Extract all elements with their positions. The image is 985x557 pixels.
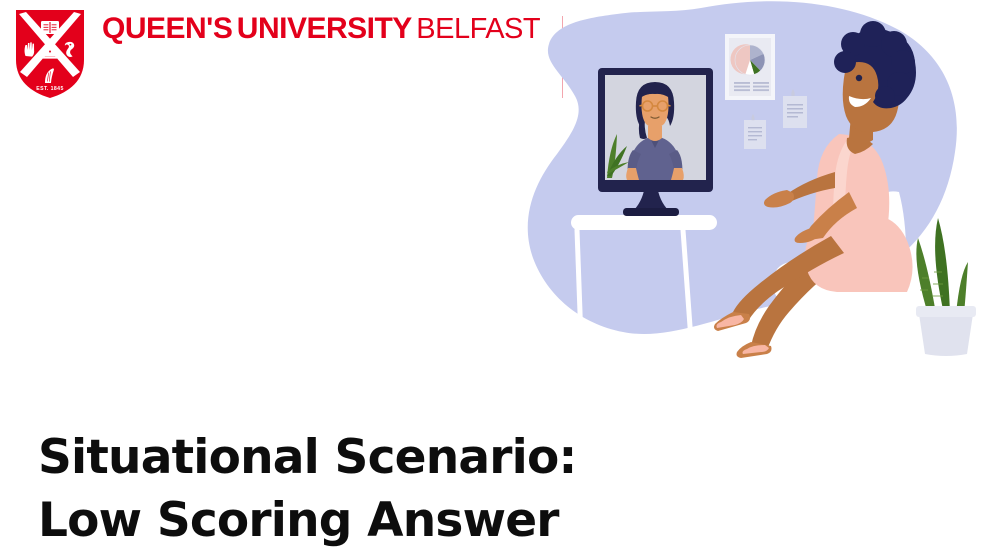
wordmark-line-queens: QUEEN'S [102,12,232,45]
wordmark-line-university: UNIVERSITY [237,12,412,45]
video-call-consultation-illustration [495,0,985,360]
slide-canvas: EST. 1845 QUEEN'S UNIVERSITY BELFAST SCH… [0,0,985,557]
page-title-line-2: Low Scoring Answer [38,490,798,552]
university-crest-icon: EST. 1845 [14,8,86,100]
crest-motto-text: EST. 1845 [36,86,64,92]
snake-plant [916,218,976,356]
wordmark: QUEEN'S UNIVERSITY BELFAST [102,15,540,43]
page-title-line-1: Situational Scenario: [38,427,798,489]
page-title: Situational Scenario: Low Scoring Answer [38,427,798,551]
wall-poster-pie-chart [725,34,775,100]
